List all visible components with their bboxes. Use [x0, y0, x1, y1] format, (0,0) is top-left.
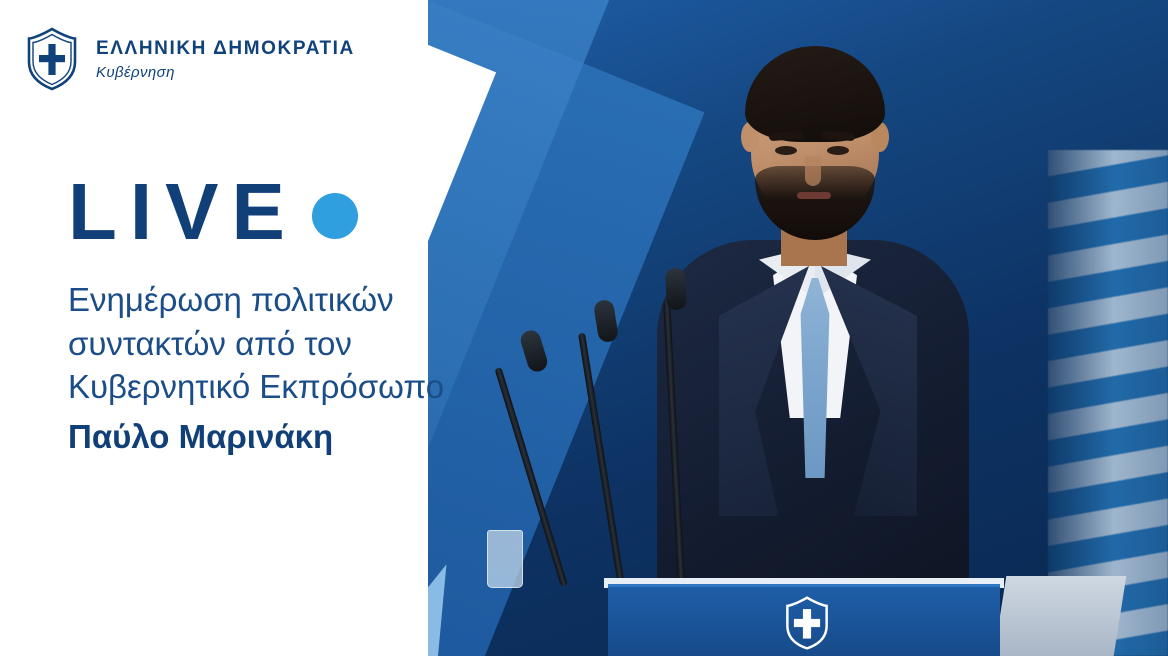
- headline-line-1: Ενημέρωση πολιτικών: [68, 281, 394, 318]
- live-badge: LIVE: [68, 172, 358, 252]
- spokesperson-figure: [663, 40, 963, 620]
- podium-side-panel: [994, 576, 1127, 656]
- live-dot-icon: [312, 193, 358, 239]
- headline-line-2: συντακτών από τον: [68, 325, 352, 362]
- government-title: ΕΛΛΗΝΙΚΗ ΔΗΜΟΚΡΑΤΙΑ: [96, 38, 355, 60]
- greek-republic-emblem-icon: [22, 26, 82, 92]
- headline: Ενημέρωση πολιτικών συντακτών από τον Κυ…: [68, 278, 538, 458]
- mouth: [797, 192, 831, 199]
- nose: [805, 156, 821, 186]
- video-thumbnail: ΕΛΛΗΝΙΚΗ ΔΗΜΟΚΡΑΤΙΑ Κυβέρνηση LIVE Ενημέ…: [0, 0, 1168, 656]
- government-branding: ΕΛΛΗΝΙΚΗ ΔΗΜΟΚΡΑΤΙΑ Κυβέρνηση: [22, 26, 355, 92]
- government-branding-text: ΕΛΛΗΝΙΚΗ ΔΗΜΟΚΡΑΤΙΑ Κυβέρνηση: [96, 38, 355, 81]
- eye-left: [775, 146, 797, 155]
- podium-emblem-icon: [780, 596, 834, 650]
- headline-line-3: Κυβερνητικό Εκπρόσωπο: [68, 368, 444, 405]
- hair: [745, 46, 885, 142]
- eye-right: [827, 146, 849, 155]
- live-label: LIVE: [68, 172, 298, 252]
- title-panel: ΕΛΛΗΝΙΚΗ ΔΗΜΟΚΡΑΤΙΑ Κυβέρνηση LIVE Ενημέ…: [0, 0, 600, 656]
- speaker-name: Παύλο Μαρινάκη: [68, 415, 538, 459]
- government-subtitle: Κυβέρνηση: [96, 64, 355, 81]
